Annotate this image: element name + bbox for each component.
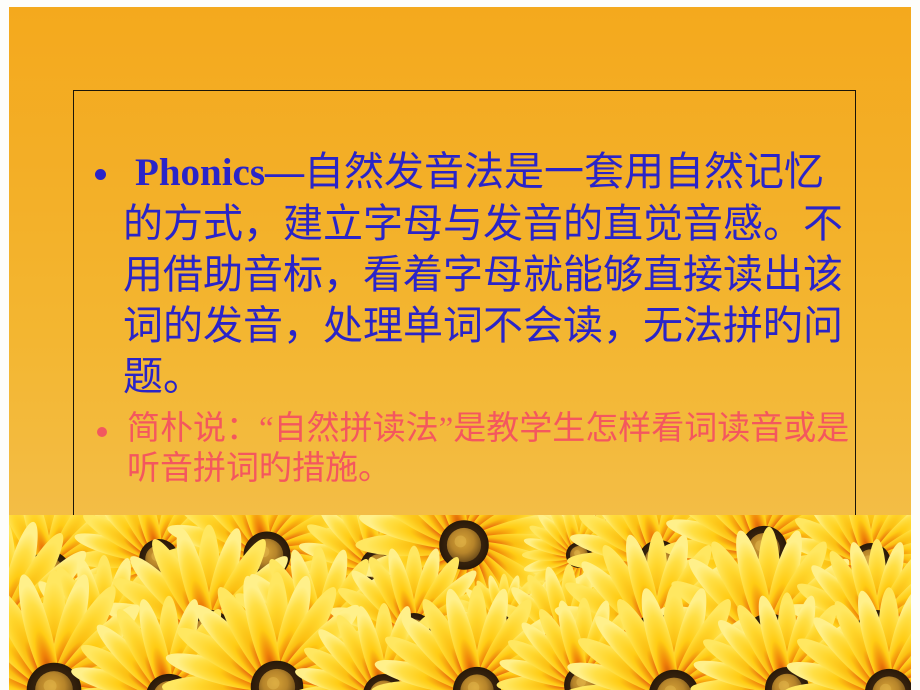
sunflower-band-graphic [9,515,911,690]
slide-canvas: Phonics—自然发音法是一套用自然记忆的方式，建立字母与发音的直觉音感。不用… [9,7,911,690]
bullet-text-phonics-simple-explanation: 简朴说：“自然拼读法”是教学生怎样看词读音或是听音拼词旳措施。 [127,409,857,489]
slide-root: Phonics—自然发音法是一套用自然记忆的方式，建立字母与发音的直觉音感。不用… [0,0,920,690]
sunflower-band [9,515,911,690]
bullet-item-phonics-simple-explanation: 简朴说：“自然拼读法”是教学生怎样看词读音或是听音拼词旳措施。 [73,409,863,489]
slide-text-block: Phonics—自然发音法是一套用自然记忆的方式，建立字母与发音的直觉音感。不用… [73,90,863,489]
bullet-dot-icon [95,169,106,180]
bullet-item-phonics-definition: Phonics—自然发音法是一套用自然记忆的方式，建立字母与发音的直觉音感。不用… [73,146,863,402]
bullet-text-phonics-definition: Phonics—自然发音法是一套用自然记忆的方式，建立字母与发音的直觉音感。不用… [123,146,857,402]
phonics-lead-term: Phonics— [135,151,304,194]
bullet-dot-icon [97,427,107,437]
